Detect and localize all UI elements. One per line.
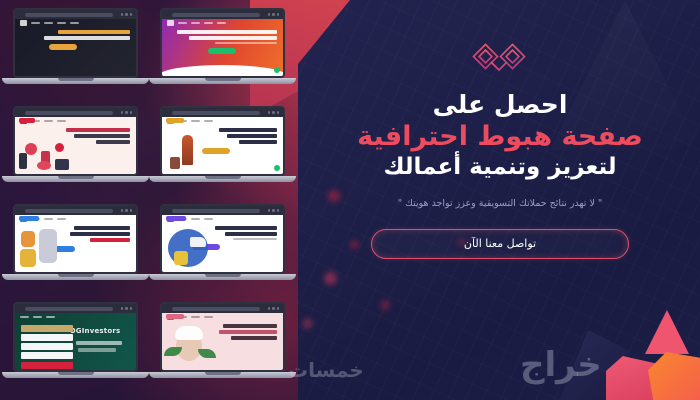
headline-bar: [74, 226, 130, 230]
browser-chrome: [15, 108, 136, 117]
mock-illustration: [170, 157, 180, 169]
browser-dot: [121, 307, 124, 310]
mock-nav: [15, 19, 136, 26]
mock-page-5: [15, 215, 136, 272]
laptop-notch: [58, 78, 94, 81]
browser-dot: [125, 111, 128, 114]
headline-bar: [96, 140, 130, 144]
nav-link: [191, 218, 200, 220]
nav-link: [204, 316, 213, 318]
browser-urlbar: [172, 13, 260, 17]
laptop-notch: [205, 274, 241, 277]
headline-bar: [78, 348, 116, 352]
headline-bar: [219, 128, 277, 132]
mock-headline: [162, 124, 283, 156]
mock-nav: [162, 19, 283, 26]
headline-bar: [44, 36, 130, 40]
nav-link: [204, 120, 213, 122]
browser-dot: [125, 209, 128, 212]
laptop-mockup-5: [8, 202, 143, 290]
mock-cta: [166, 216, 186, 221]
browser-chrome: [15, 206, 136, 215]
headline-block: احصل على صفحة هبوط احترافية لتعزيز وتنمي…: [300, 90, 700, 182]
nav-link: [46, 316, 55, 318]
brand-logo: [471, 40, 529, 80]
browser-dot: [272, 209, 275, 212]
headline-bar: [227, 134, 277, 138]
nav-link: [57, 22, 66, 24]
whatsapp-bubble-icon: [274, 67, 280, 73]
nav-link: [191, 120, 200, 122]
nav-link: [57, 218, 66, 220]
mock-form-title: [21, 325, 73, 332]
mock-illustration: [37, 161, 51, 170]
mock-illustration: [21, 231, 35, 247]
laptop-notch: [205, 176, 241, 179]
nav-link: [20, 316, 29, 318]
laptop-screen: [160, 204, 285, 274]
mock-wave-art: [162, 65, 283, 76]
headline-bar: [70, 232, 130, 236]
browser-urlbar: [25, 307, 113, 311]
nav-link: [178, 22, 187, 24]
mock-cta: [19, 118, 35, 123]
mock-form-input: [21, 334, 73, 341]
mock-page-2: [162, 19, 283, 76]
mock-illustration: [190, 237, 206, 247]
diamond-infinity-monogram-icon: [471, 40, 529, 80]
headline-bar: [74, 134, 130, 138]
nav-link: [33, 316, 42, 318]
laptop-mockup-2: [155, 6, 290, 94]
mock-cta: [49, 44, 77, 50]
laptop-screen: [160, 106, 285, 176]
mock-illustration: [174, 251, 188, 265]
mock-nav: [15, 313, 136, 320]
browser-chrome: [15, 304, 136, 313]
headline-line-3: لتعزيز وتنمية أعمالك: [300, 154, 700, 182]
browser-dot: [125, 13, 128, 16]
headline-bar: [76, 341, 122, 345]
nav-link: [44, 218, 53, 220]
headline-bar: [58, 30, 130, 34]
nav-link: [204, 22, 213, 24]
laptop-mockup-grid: OGInvestors: [0, 0, 330, 400]
nav-link: [217, 22, 226, 24]
laptop-mockup-6: [155, 202, 290, 290]
browser-dot: [277, 307, 280, 310]
headline-bar: [223, 324, 277, 328]
browser-dot: [268, 209, 271, 212]
mock-cta: [19, 216, 39, 221]
browser-dot: [277, 13, 280, 16]
laptop-mockup-8: [155, 300, 290, 388]
browser-dot: [268, 111, 271, 114]
headline-bar: [233, 238, 277, 240]
nav-link: [204, 218, 213, 220]
laptop-screen: OGInvestors: [13, 302, 138, 372]
headline-bar: [66, 128, 130, 132]
browser-dot: [130, 307, 133, 310]
browser-dot: [268, 13, 271, 16]
laptop-notch: [58, 372, 94, 375]
browser-urlbar: [25, 209, 113, 213]
headline-bar: [225, 232, 277, 236]
nav-link: [57, 120, 66, 122]
browser-dot: [130, 209, 133, 212]
browser-urlbar: [172, 209, 260, 213]
mock-illustration: [19, 153, 27, 169]
mock-illustration: [55, 159, 69, 170]
mock-leaf: [198, 349, 216, 358]
khamsat-watermark: خمسات: [288, 358, 364, 382]
mock-logo: [20, 20, 27, 26]
mock-page-7: OGInvestors: [15, 313, 136, 370]
browser-chrome: [162, 10, 283, 19]
mock-illustration: [55, 143, 64, 152]
browser-chrome: [162, 304, 283, 313]
mock-headline: [15, 26, 136, 52]
browser-chrome: [162, 108, 283, 117]
laptop-mockup-7: OGInvestors: [8, 300, 143, 388]
browser-urlbar: [172, 111, 260, 115]
kharaj-watermark: خراج: [520, 345, 602, 385]
browser-dot: [121, 13, 124, 16]
browser-urlbar: [25, 111, 113, 115]
laptop-mockup-3: [8, 104, 143, 192]
nav-link: [191, 22, 200, 24]
browser-dot: [272, 13, 275, 16]
browser-dot: [272, 111, 275, 114]
browser-dot: [277, 111, 280, 114]
hero-content: احصل على صفحة هبوط احترافية لتعزيز وتنمي…: [300, 0, 700, 400]
mock-form-submit: [21, 362, 73, 369]
mock-illustration: [20, 249, 36, 267]
contact-us-button[interactable]: تواصل معنا الآن: [371, 229, 629, 259]
nav-link: [44, 22, 53, 24]
headline-line-1: احصل على: [300, 90, 700, 120]
laptop-screen: [13, 8, 138, 78]
browser-dot: [268, 307, 271, 310]
headline-bar: [90, 238, 130, 242]
headline-bar: [177, 30, 277, 34]
mock-cta: [166, 314, 184, 319]
mock-page-3: [15, 117, 136, 174]
browser-chrome: [15, 10, 136, 19]
browser-dot: [272, 307, 275, 310]
mock-logo: [167, 20, 174, 26]
laptop-mockup-4: [155, 104, 290, 192]
browser-dot: [121, 209, 124, 212]
headline-bar: [215, 226, 277, 230]
mock-form-input: [21, 352, 73, 359]
browser-chrome: [162, 206, 283, 215]
ad-banner: OGInvestors: [0, 0, 700, 400]
laptop-screen: [160, 8, 285, 78]
nav-link: [70, 22, 79, 24]
mock-model-towel: [175, 326, 203, 340]
mock-form-input: [21, 343, 73, 350]
laptop-screen: [160, 302, 285, 372]
browser-dot: [125, 307, 128, 310]
mock-illustration: [39, 229, 57, 263]
nav-link: [44, 120, 53, 122]
nav-link: [31, 22, 40, 24]
mock-page-4: [162, 117, 283, 174]
browser-urlbar: [172, 307, 260, 311]
headline-bar: [215, 42, 277, 44]
mock-cta: [208, 48, 236, 54]
laptop-notch: [205, 78, 241, 81]
mock-cta: [166, 118, 184, 123]
laptop-screen: [13, 204, 138, 274]
mock-illustration: [182, 135, 193, 165]
headline-bar: [231, 336, 277, 340]
browser-dot: [130, 13, 133, 16]
headline-line-2: صفحة هبوط احترافية: [300, 121, 700, 153]
mock-page-6: [162, 215, 283, 272]
mock-cta: [202, 148, 230, 154]
browser-dot: [121, 111, 124, 114]
whatsapp-bubble-icon: [274, 165, 280, 171]
laptop-screen: [13, 106, 138, 176]
laptop-notch: [58, 274, 94, 277]
headline-bar: [219, 330, 277, 334]
headline-bar: [189, 36, 277, 40]
mock-headline: [162, 26, 283, 56]
subtitle-text: " لا تهدر نتائج حملاتك التسويقية وعزز تو…: [398, 198, 603, 209]
laptop-mockup-1: [8, 6, 143, 94]
mock-page-8: [162, 313, 283, 370]
browser-urlbar: [25, 13, 113, 17]
nav-link: [191, 316, 200, 318]
laptop-notch: [205, 372, 241, 375]
headline-bar: [239, 140, 277, 144]
laptop-notch: [58, 176, 94, 179]
mock-page-1: [15, 19, 136, 76]
browser-dot: [277, 209, 280, 212]
browser-dot: [130, 111, 133, 114]
